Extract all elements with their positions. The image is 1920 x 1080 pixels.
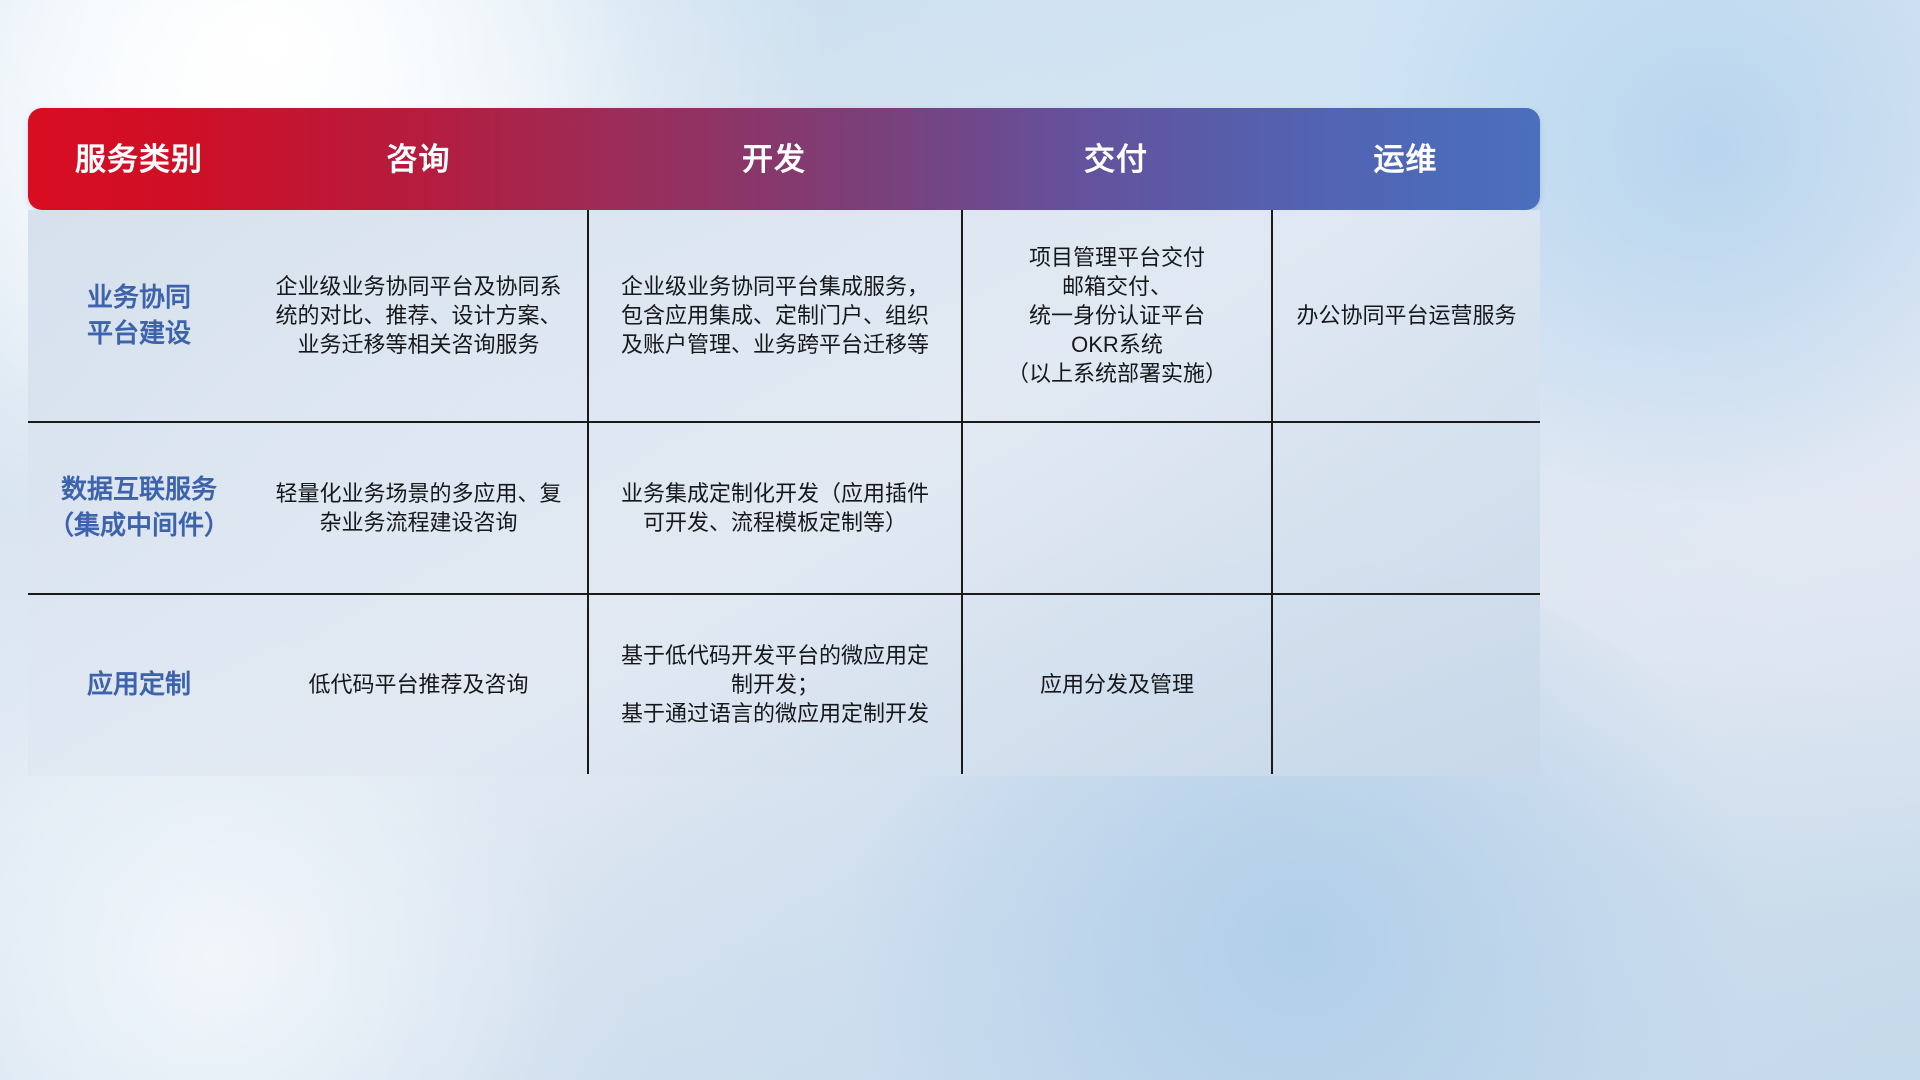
table-body: 业务协同 平台建设 企业级业务协同平台及协同系 统的对比、推荐、设计方案、 业务… — [28, 210, 1540, 776]
row-1-cell-delivery — [961, 423, 1271, 593]
row-0-cell-consulting: 企业级业务协同平台及协同系 统的对比、推荐、设计方案、 业务迁移等相关咨询服务 — [250, 210, 587, 421]
table-row: 数据互联服务 （集成中间件） 轻量化业务场景的多应用、复 杂业务流程建设咨询 业… — [28, 421, 1540, 593]
row-2-cell-consulting: 低代码平台推荐及咨询 — [250, 595, 587, 774]
table-header-cell-operations: 运维 — [1271, 144, 1540, 175]
row-1-cell-category: 数据互联服务 （集成中间件） — [28, 423, 250, 593]
row-2-cell-category: 应用定制 — [28, 595, 250, 774]
row-0-cell-delivery: 项目管理平台交付 邮箱交付、 统一身份认证平台 OKR系统 （以上系统部署实施） — [961, 210, 1271, 421]
row-0-cell-development: 企业级业务协同平台集成服务， 包含应用集成、定制门户、组织 及账户管理、业务跨平… — [587, 210, 961, 421]
row-1-cell-development: 业务集成定制化开发（应用插件 可开发、流程模板定制等） — [587, 423, 961, 593]
service-category-table: 服务类别 咨询 开发 交付 运维 业务协同 平台建设 企业级业务协同平台及协同系… — [28, 108, 1540, 776]
row-2-cell-development: 基于低代码开发平台的微应用定 制开发； 基于通过语言的微应用定制开发 — [587, 595, 961, 774]
row-2-cell-operations — [1271, 595, 1540, 774]
row-1-cell-operations — [1271, 423, 1540, 593]
table-header-cell-delivery: 交付 — [961, 144, 1271, 175]
table-row: 业务协同 平台建设 企业级业务协同平台及协同系 统的对比、推荐、设计方案、 业务… — [28, 210, 1540, 421]
table-header-cell-category: 服务类别 — [28, 144, 250, 175]
row-1-cell-consulting: 轻量化业务场景的多应用、复 杂业务流程建设咨询 — [250, 423, 587, 593]
table-header-cell-development: 开发 — [587, 144, 961, 175]
table-row: 应用定制 低代码平台推荐及咨询 基于低代码开发平台的微应用定 制开发； 基于通过… — [28, 593, 1540, 774]
table-header-cell-consulting: 咨询 — [250, 144, 587, 175]
table-header-row: 服务类别 咨询 开发 交付 运维 — [28, 108, 1540, 210]
row-0-cell-category: 业务协同 平台建设 — [28, 210, 250, 421]
row-0-cell-operations: 办公协同平台运营服务 — [1271, 210, 1540, 421]
row-2-cell-delivery: 应用分发及管理 — [961, 595, 1271, 774]
